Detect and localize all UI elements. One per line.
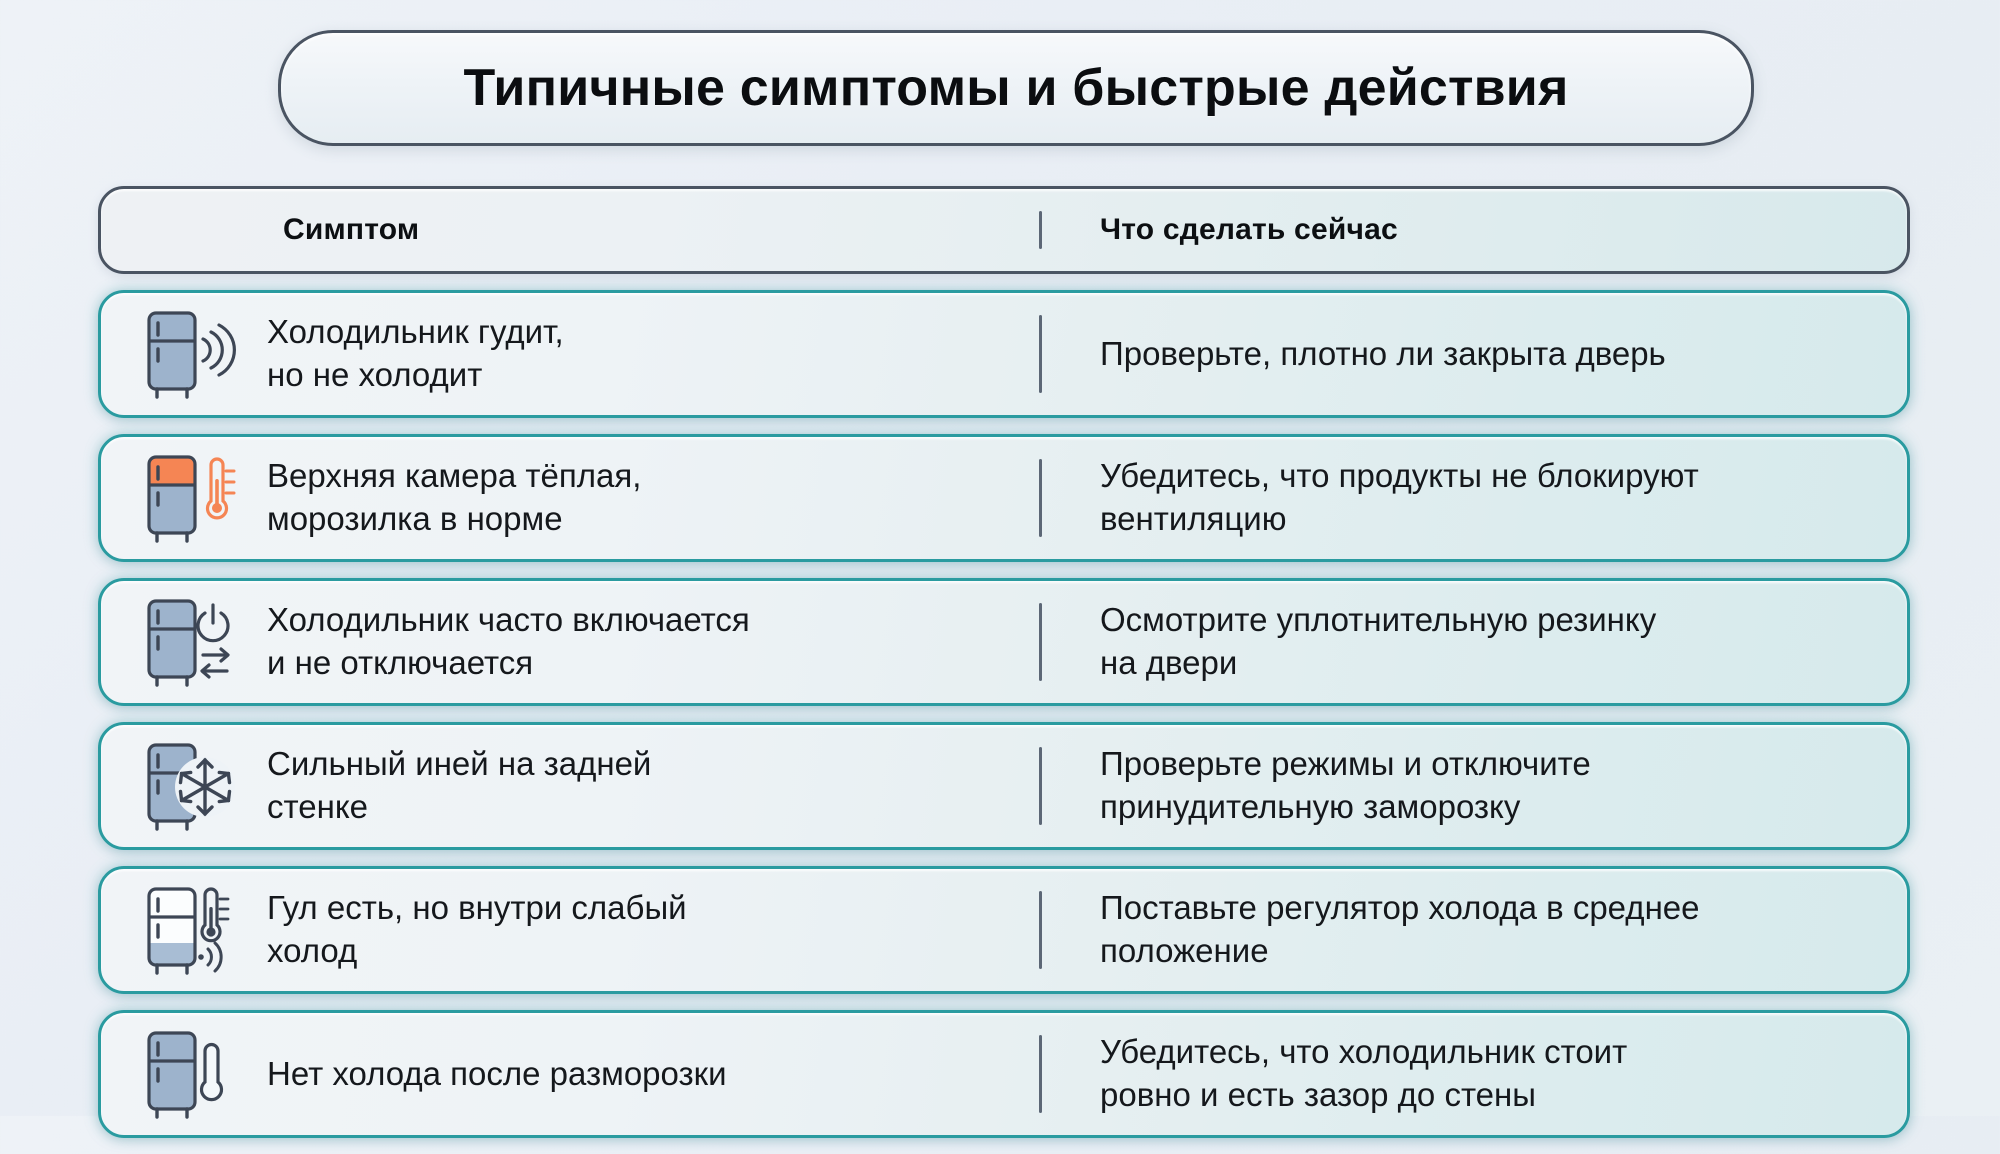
row-cell-symptom: Холодильник часто включается и не отключ… <box>101 581 1039 703</box>
fridge-warm-top-thermometer-icon <box>135 446 247 550</box>
symptom-text: Нет холода после разморозки <box>247 1053 727 1096</box>
page-title: Типичные симптомы и быстрые действия <box>463 58 1568 118</box>
row-cell-symptom: Сильный иней на задней стенке <box>101 725 1039 847</box>
symptom-text: Холодильник часто включается и не отключ… <box>247 599 750 685</box>
fridge-thermometer-icon <box>135 1022 247 1126</box>
row-cell-action: Убедитесь, что продукты не блокируют вен… <box>1042 437 1907 559</box>
header-label-action: Что сделать сейчас <box>1100 213 1398 247</box>
row-cell-symptom: Верхняя камера тёплая, морозилка в норме <box>101 437 1039 559</box>
symptoms-table: Симптом Что сделать сейчас <box>98 186 1910 1154</box>
row-cell-action: Проверьте режимы и отключите принудитель… <box>1042 725 1907 847</box>
table-row[interactable]: Гул есть, но внутри слабый холод Поставь… <box>98 866 1910 994</box>
symptom-text: Гул есть, но внутри слабый холод <box>247 887 687 973</box>
fridge-thermometer-waves-icon <box>135 878 247 982</box>
header-cell-action: Что сделать сейчас <box>1042 189 1907 271</box>
fridge-snowflake-icon <box>135 734 247 838</box>
symptom-text: Холодильник гудит, но не холодит <box>247 311 564 397</box>
row-cell-symptom: Нет холода после разморозки <box>101 1013 1039 1135</box>
header-label-symptom: Симптом <box>135 213 419 247</box>
action-text: Убедитесь, что продукты не блокируют вен… <box>1100 455 1699 541</box>
action-text: Проверьте режимы и отключите принудитель… <box>1100 743 1591 829</box>
header-cell-symptom: Симптом <box>101 189 1039 271</box>
symptom-text: Сильный иней на задней стенке <box>247 743 651 829</box>
row-cell-symptom: Холодильник гудит, но не холодит <box>101 293 1039 415</box>
symptom-text: Верхняя камера тёплая, морозилка в норме <box>247 455 641 541</box>
row-cell-action: Убедитесь, что холодильник стоит ровно и… <box>1042 1013 1907 1135</box>
table-row[interactable]: Верхняя камера тёплая, морозилка в норме… <box>98 434 1910 562</box>
table-row[interactable]: Сильный иней на задней стенке Проверьте … <box>98 722 1910 850</box>
row-cell-action: Поставьте регулятор холода в среднее пол… <box>1042 869 1907 991</box>
row-cell-action: Проверьте, плотно ли закрыта дверь <box>1042 293 1907 415</box>
infographic-page: Типичные симптомы и быстрые действия Сим… <box>0 0 2000 1116</box>
fridge-power-cycle-icon <box>135 590 247 694</box>
row-cell-symptom: Гул есть, но внутри слабый холод <box>101 869 1039 991</box>
table-header-row: Симптом Что сделать сейчас <box>98 186 1910 274</box>
fridge-sound-waves-icon <box>135 302 247 406</box>
action-text: Осмотрите уплотнительную резинку на двер… <box>1100 599 1656 685</box>
table-row[interactable]: Холодильник часто включается и не отключ… <box>98 578 1910 706</box>
page-title-pill: Типичные симптомы и быстрые действия <box>278 30 1754 146</box>
action-text: Проверьте, плотно ли закрыта дверь <box>1100 333 1666 376</box>
row-cell-action: Осмотрите уплотнительную резинку на двер… <box>1042 581 1907 703</box>
table-row[interactable]: Холодильник гудит, но не холодит Проверь… <box>98 290 1910 418</box>
action-text: Поставьте регулятор холода в среднее пол… <box>1100 887 1700 973</box>
action-text: Убедитесь, что холодильник стоит ровно и… <box>1100 1031 1627 1117</box>
table-row[interactable]: Нет холода после разморозки Убедитесь, ч… <box>98 1010 1910 1138</box>
